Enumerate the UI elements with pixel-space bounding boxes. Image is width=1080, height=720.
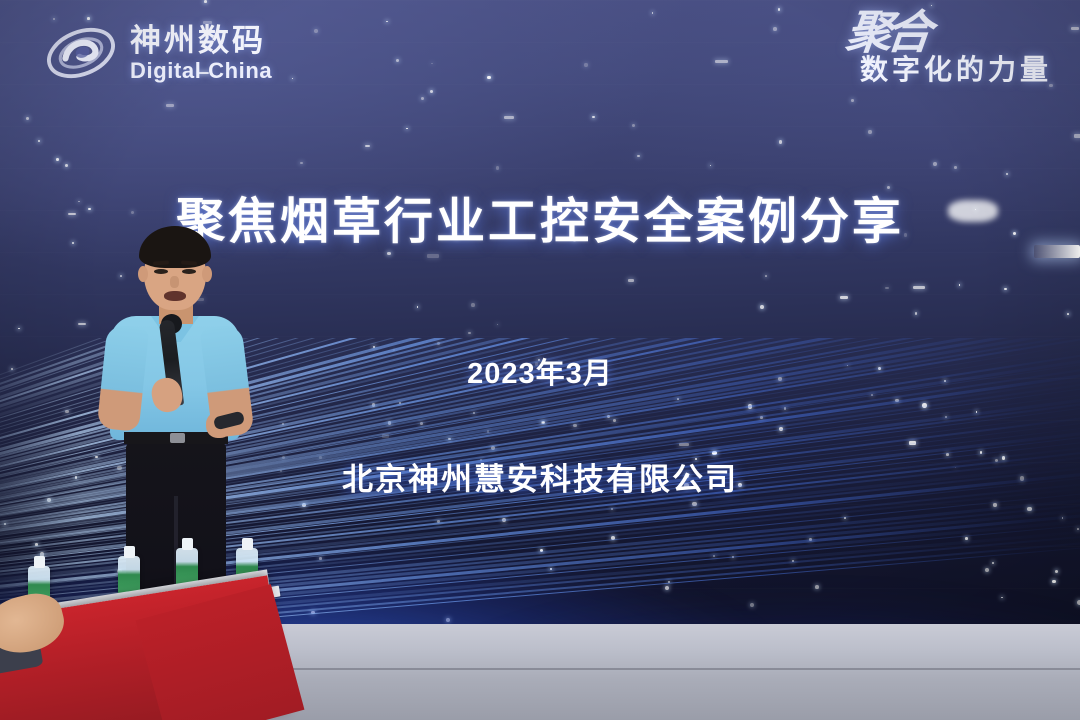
event-script-cn: 聚合 xyxy=(844,12,928,54)
particle-dot xyxy=(421,97,424,100)
particle-dot xyxy=(779,140,782,143)
bottle-cap xyxy=(242,538,253,550)
particle-dot xyxy=(427,254,439,258)
particle-dot xyxy=(417,306,418,307)
particle-dot xyxy=(840,296,848,299)
presenter-left-eye xyxy=(154,269,168,274)
particle-dot xyxy=(78,323,86,326)
particle-dot xyxy=(931,5,932,6)
particle-dot xyxy=(959,284,960,285)
particle-dot xyxy=(933,162,937,166)
particle-dot xyxy=(885,287,889,290)
particle-dot xyxy=(365,145,370,147)
particle-dot xyxy=(652,12,654,14)
particle-dot xyxy=(56,158,59,161)
brand-name-en: Digital China xyxy=(130,60,272,82)
particle-dot xyxy=(65,164,68,167)
particle-dot xyxy=(592,116,595,119)
particle-dot xyxy=(166,104,174,106)
particle-dot xyxy=(487,76,490,79)
particle-dot xyxy=(954,166,957,169)
particle-dot xyxy=(204,0,207,3)
particle-dot xyxy=(386,21,388,23)
presenter-mouth xyxy=(164,291,186,301)
particle-dot xyxy=(760,305,764,309)
bottle-cap xyxy=(124,546,135,558)
particle-dot xyxy=(504,116,514,119)
presenter-left-ear xyxy=(138,266,148,282)
particle-dot xyxy=(396,59,399,62)
particle-dot xyxy=(632,124,635,127)
particle-dot xyxy=(765,275,767,277)
conference-stage-photo: 神州数码 Digital China 聚合 数字化的力量 聚焦烟草行业工控安全案… xyxy=(0,0,1080,720)
particle-dot xyxy=(497,324,499,326)
particle-dot xyxy=(300,162,303,165)
presenter-hair xyxy=(139,226,211,268)
particle-dot xyxy=(913,286,925,289)
particle-dot xyxy=(915,312,918,315)
presenter-right-eye xyxy=(182,269,196,274)
bottle-cap xyxy=(34,556,45,568)
presenter-belt-buckle xyxy=(170,433,185,443)
particle-dot xyxy=(637,155,639,157)
particle-dot xyxy=(773,27,777,31)
particle-dot xyxy=(430,90,433,93)
particle-dot xyxy=(584,63,587,66)
particle-dot xyxy=(778,8,781,11)
particle-dot xyxy=(1006,173,1008,175)
particle-dot xyxy=(1074,134,1080,137)
particle-dot xyxy=(38,140,40,142)
brand-lockup: 神州数码 Digital China xyxy=(42,18,272,88)
particle-dot xyxy=(314,29,318,33)
brand-name-cn: 神州数码 xyxy=(130,25,272,56)
particle-dot xyxy=(710,165,711,166)
event-brand-lockup: 聚合 数字化的力量 xyxy=(846,12,1052,88)
particle-dot xyxy=(868,130,871,133)
particle-dot xyxy=(1071,27,1079,31)
particle-dot xyxy=(496,166,500,170)
particle-dot xyxy=(471,303,475,307)
particle-dot xyxy=(431,63,432,64)
particle-dot xyxy=(26,117,29,120)
particle-dot xyxy=(715,60,727,63)
particle-dot xyxy=(406,128,407,129)
particle-dot xyxy=(851,99,854,102)
digital-china-swirl-logo-icon xyxy=(42,18,120,88)
particle-dot xyxy=(1004,288,1006,290)
presenter-right-ear xyxy=(202,266,212,282)
particle-dot xyxy=(1067,313,1069,315)
particle-dot xyxy=(292,78,293,79)
brand-text: 神州数码 Digital China xyxy=(130,25,272,82)
particle-dot xyxy=(18,328,19,329)
presenter-nose xyxy=(170,276,179,288)
particle-dot xyxy=(628,279,634,283)
bottle-cap xyxy=(182,538,193,550)
particle-dot xyxy=(468,332,471,335)
